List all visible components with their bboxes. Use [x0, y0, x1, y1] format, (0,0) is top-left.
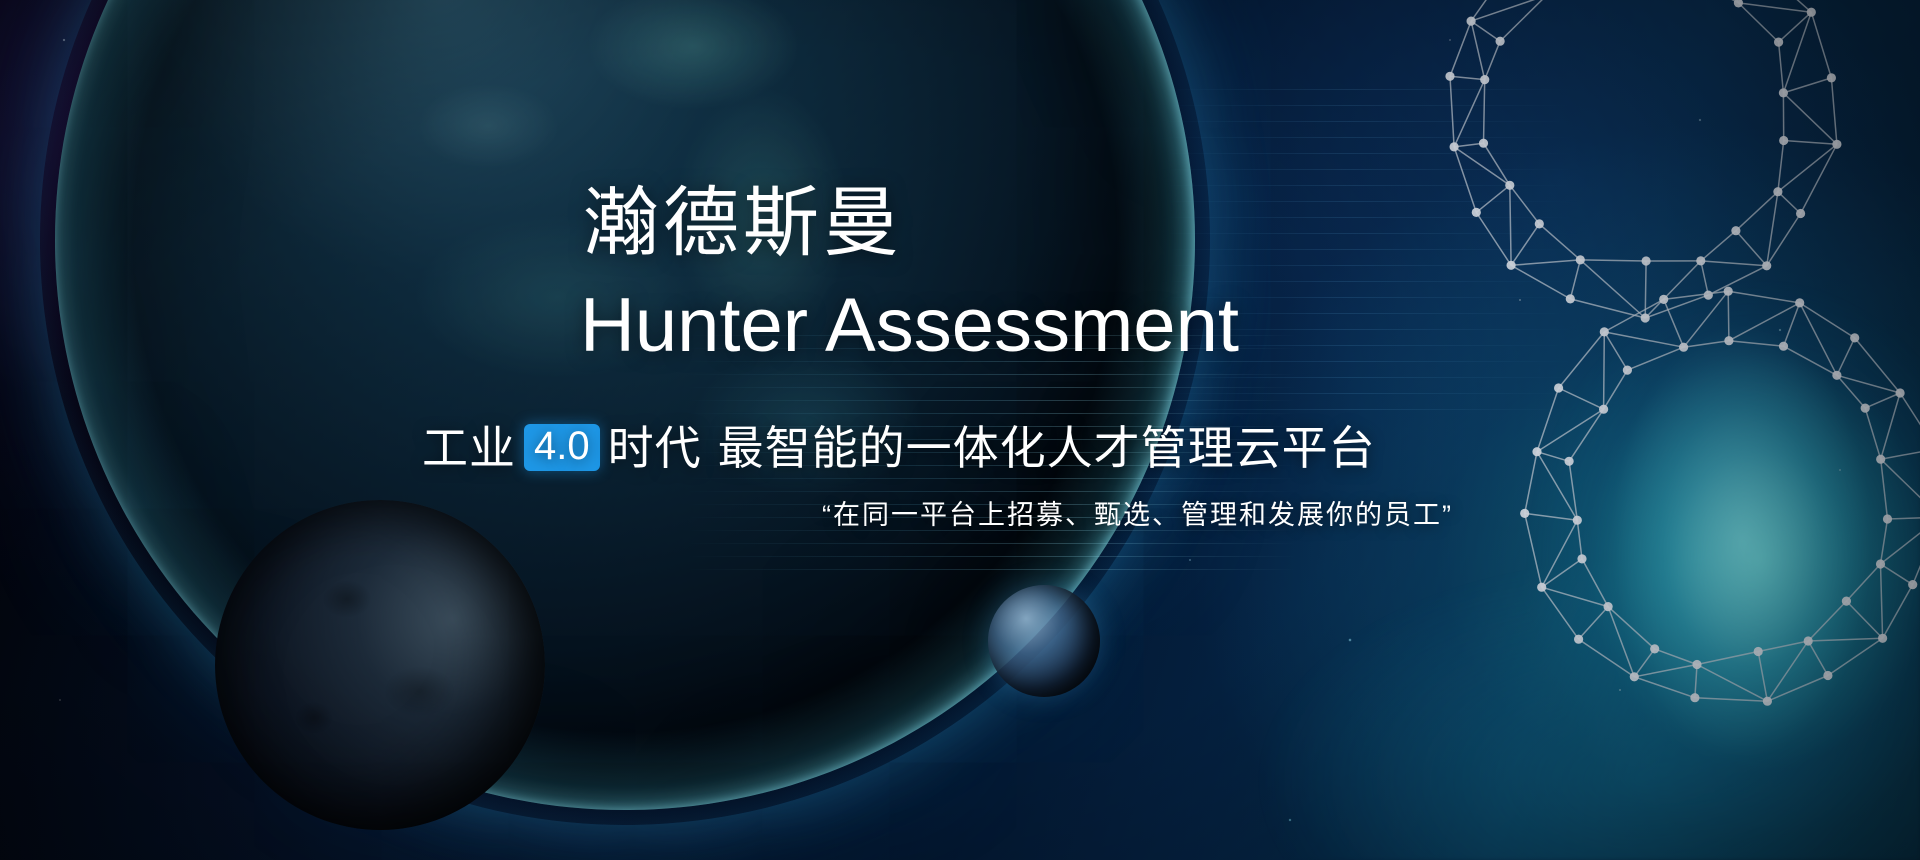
brand-title-english: Hunter Assessment: [580, 288, 1239, 364]
brand-title-chinese: 瀚德斯曼: [583, 186, 903, 262]
subtitle-prefix: 工业: [422, 425, 516, 471]
subtitle-tail: 最智能的一体化人才管理云平台: [718, 425, 1376, 471]
industry-version-badge: 4.0: [524, 424, 600, 471]
hero-tagline: “在同一平台上招募、甄选、管理和发展你的员工”: [822, 502, 1453, 529]
hero-banner: 瀚德斯曼 Hunter Assessment 工业 4.0 时代 最智能的一体化…: [0, 0, 1920, 860]
hero-subtitle: 工业 4.0 时代 最智能的一体化人才管理云平台: [422, 424, 1376, 471]
subtitle-era: 时代: [608, 425, 702, 471]
hero-content: 瀚德斯曼 Hunter Assessment 工业 4.0 时代 最智能的一体化…: [0, 0, 1920, 860]
